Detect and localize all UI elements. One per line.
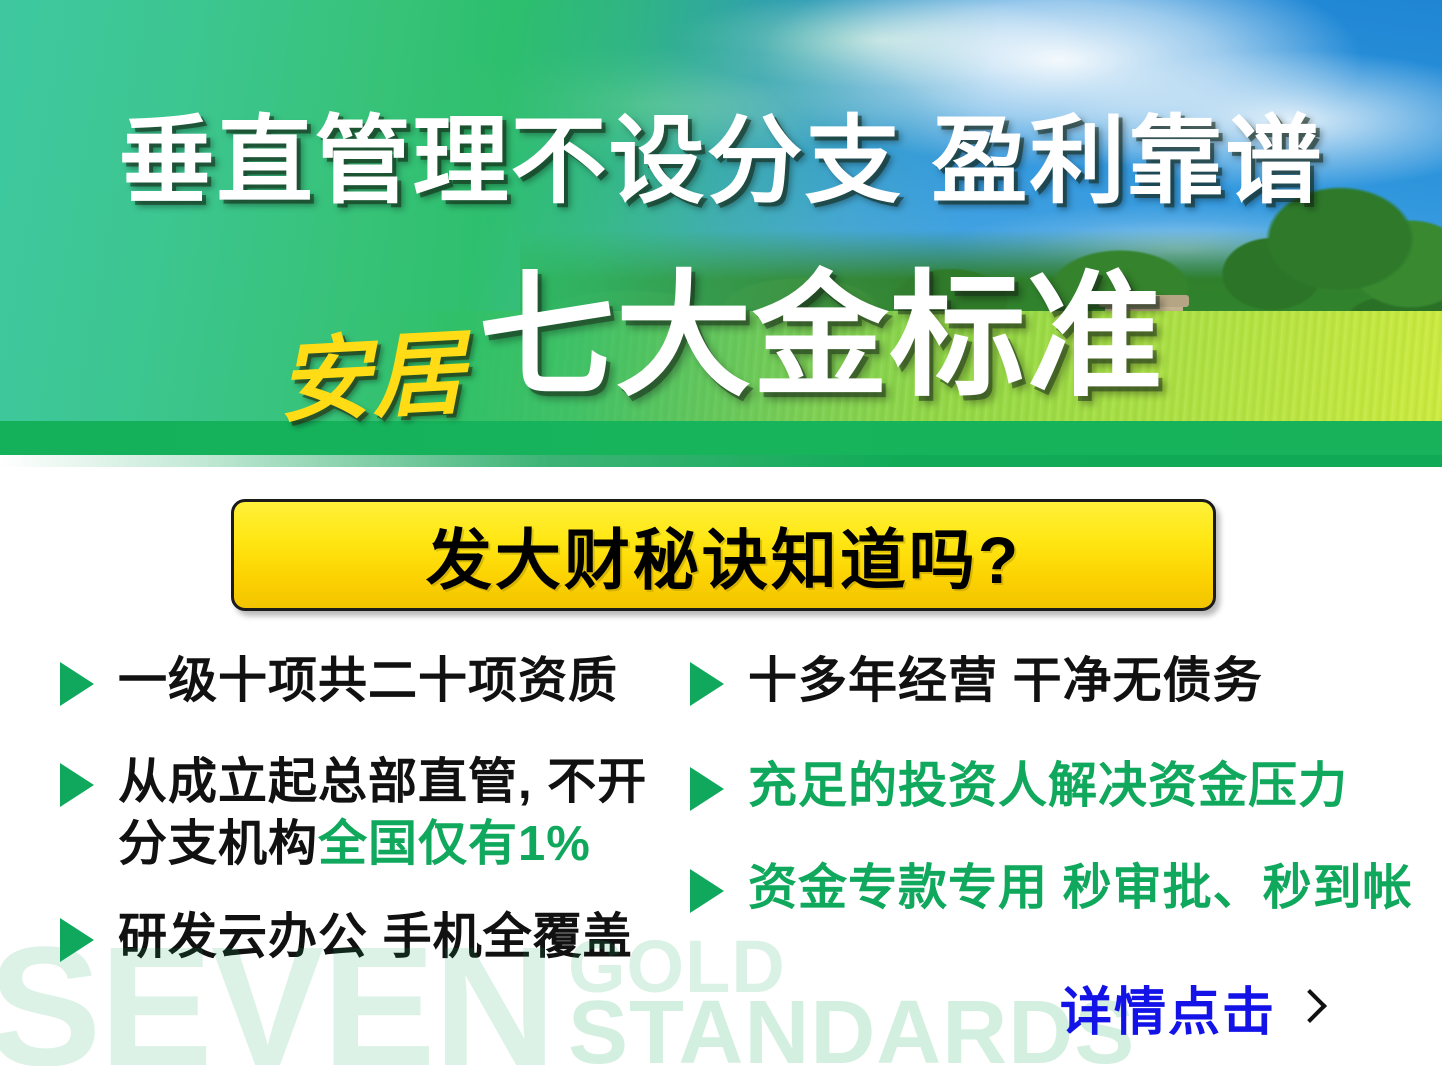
feature-item: 从成立起总部直管, 不开 分支机构全国仅有1% [60, 751, 700, 876]
feature-item: 研发云办公 手机全覆盖 [60, 906, 700, 969]
feature-line: 充足的投资人解决资金压力 [748, 755, 1348, 818]
feature-line: 资金专款专用 秒审批、秒到帐 [748, 857, 1413, 920]
triangle-bullet-icon [690, 662, 724, 706]
feature-text: 从成立起总部直管, 不开 分支机构全国仅有1% [118, 751, 647, 876]
feature-line: 一级十项共二十项资质 [118, 650, 618, 713]
highlight-banner[interactable]: 发大财秘诀知道吗? [231, 499, 1216, 611]
triangle-bullet-icon [60, 763, 94, 807]
feature-item: 十多年经营 干净无债务 [690, 650, 1430, 713]
brand-name: 安居 [276, 326, 469, 428]
feature-list: 一级十项共二十项资质 从成立起总部直管, 不开 分支机构全国仅有1% 研发云办公… [0, 650, 1442, 1010]
feature-item: 充足的投资人解决资金压力 [690, 755, 1430, 818]
feature-column-left: 一级十项共二十项资质 从成立起总部直管, 不开 分支机构全国仅有1% 研发云办公… [60, 650, 700, 999]
section-divider [0, 455, 1442, 467]
feature-text: 十多年经营 干净无债务 [748, 650, 1263, 713]
feature-line: 十多年经营 干净无债务 [748, 650, 1263, 713]
feature-line-highlight: 全国仅有1% [318, 817, 591, 871]
hero-subhead-row: 安居七大金标准 [0, 268, 1442, 404]
feature-text: 充足的投资人解决资金压力 [748, 755, 1348, 818]
hero-headline: 垂直管理不设分支 盈利靠谱 [0, 114, 1442, 210]
promo-poster: 垂直管理不设分支 盈利靠谱 安居七大金标准 发大财秘诀知道吗? 一级十项共二十项… [0, 0, 1442, 1066]
triangle-bullet-icon [60, 918, 94, 962]
triangle-bullet-icon [60, 662, 94, 706]
feature-line-plain: 分支机构 [118, 817, 318, 871]
hero-bottom-green-band [0, 421, 1442, 455]
feature-line: 从成立起总部直管, 不开 [118, 751, 647, 814]
feature-text: 研发云办公 手机全覆盖 [118, 906, 633, 969]
feature-line-2: 分支机构全国仅有1% [118, 813, 647, 876]
feature-text: 一级十项共二十项资质 [118, 650, 618, 713]
hero-subhead: 七大金标准 [479, 268, 1164, 404]
hero-banner: 垂直管理不设分支 盈利靠谱 安居七大金标准 [0, 0, 1442, 455]
triangle-bullet-icon [690, 869, 724, 913]
triangle-bullet-icon [690, 767, 724, 811]
details-cta-button[interactable]: 详情点击 [1060, 970, 1322, 1045]
feature-item: 资金专款专用 秒审批、秒到帐 [690, 857, 1430, 920]
feature-line: 研发云办公 手机全覆盖 [118, 906, 633, 969]
feature-column-right: 十多年经营 干净无债务 充足的投资人解决资金压力 资金专款专用 秒审批、秒到帐 [690, 650, 1430, 950]
highlight-banner-text: 发大财秘诀知道吗? [426, 507, 1021, 603]
details-cta-label: 详情点击 [1060, 970, 1276, 1045]
feature-text: 资金专款专用 秒审批、秒到帐 [748, 857, 1413, 920]
feature-item: 一级十项共二十项资质 [60, 650, 700, 713]
chevron-right-icon [1293, 989, 1327, 1023]
